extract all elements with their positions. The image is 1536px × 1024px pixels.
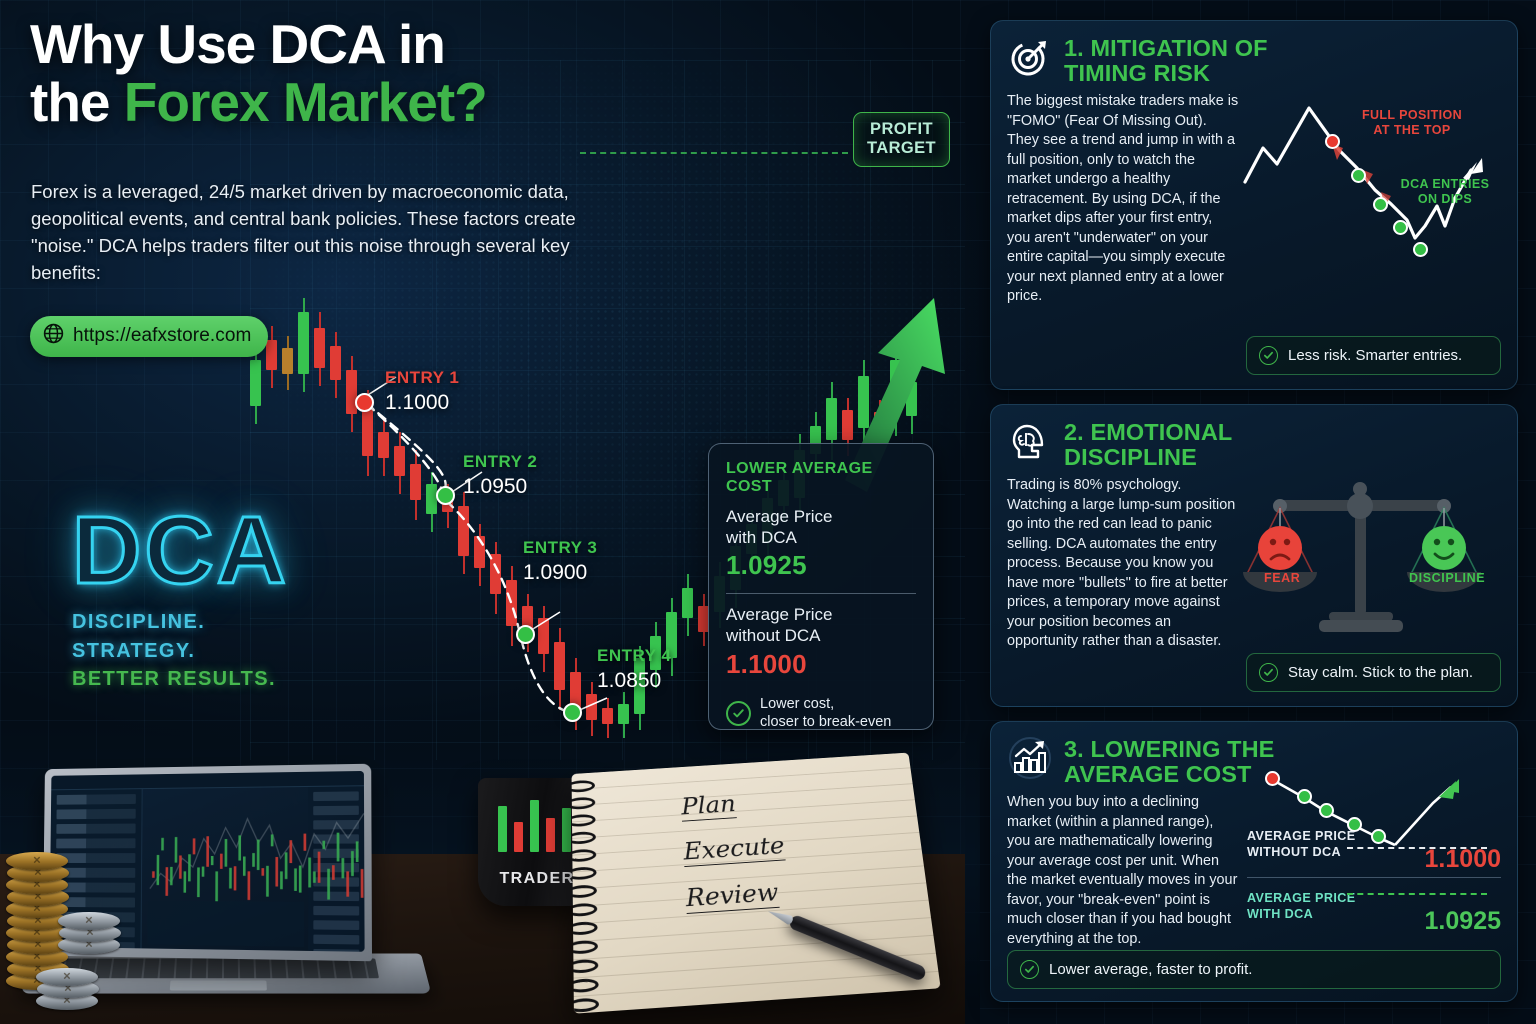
panel-1-badge-text: Less risk. Smarter entries. [1288,347,1462,364]
panel-3-badge-text: Lower average, faster to profit. [1049,961,1252,978]
lower-average-cost-card: LOWER AVERAGE COST Average Price with DC… [708,443,934,730]
panel-3-badge: Lower average, faster to profit. [1007,950,1501,989]
cost-footer-line1: Lower cost, [760,696,834,712]
panel-1-title-line2: TIMING RISK [1064,60,1210,86]
panel-3-visual: AVERAGE PRICE WITHOUT DCA 1.1000 AVERAGE… [1247,793,1501,949]
without-dca-value: 1.1000 [726,649,916,680]
entry-4-title: ENTRY 4 [597,646,671,666]
cost-card-title: LOWER AVERAGE COST [726,460,916,496]
cost-card-divider [726,593,916,594]
without-dca-label: Average Price without DCA [726,605,916,646]
head-brain-icon [1007,418,1053,464]
panel-3-row-without-dca: AVERAGE PRICE WITHOUT DCA 1.1000 [1247,827,1501,883]
panel-3-row1-label-line1: AVERAGE PRICE [1247,829,1356,843]
panel-lowering-the-average-cost: 3. LOWERING THE AVERAGE COST When you bu… [990,721,1518,1002]
panel-2-title-line1: EMOTIONAL [1090,419,1232,445]
entry-2-label: ENTRY 2 1.0950 [463,452,537,499]
notebook: Plan Execute Review [572,753,941,1014]
full-position-label-line2: AT THE TOP [1373,123,1450,137]
check-circle-icon [1259,663,1278,682]
desk-scene: ✕✕✕✕✕✕✕✕✕✕✕ ✕✕✕ ✕✕✕ TRADER Plan Execute … [0,714,965,1024]
panel-3-title-line2: AVERAGE COST [1064,761,1251,787]
notebook-line-plan: Plan [681,790,737,821]
check-circle-icon [1259,346,1278,365]
silver-coin-stack-2: ✕✕✕ [36,970,98,1010]
with-dca-label-line1: Average Price [726,507,832,526]
panel-3-text: When you buy into a declining market (wi… [1007,793,1239,949]
left-column: PROFIT TARGET ENTRY 1 1.1000 ENTRY 2 1.0… [0,0,965,1024]
title-line-2-prefix: the [30,71,124,133]
profit-target-line-1: PROFIT [867,120,936,139]
panel-mitigation-of-timing-risk: 1. MITIGATION OF TIMING RISK The biggest… [990,20,1518,390]
panel-3-row1-label-line2: WITHOUT DCA [1247,845,1341,859]
platform-price-chart [148,793,365,916]
notebook-line-review: Review [685,878,779,914]
target-arrow-icon [1007,34,1053,80]
notebook-line-execute: Execute [683,832,786,867]
page-title: Why Use DCA in the Forex Market? [30,16,670,132]
profit-target-line-2: TARGET [867,139,936,158]
panel-1-title-line1: MITIGATION OF [1090,35,1267,61]
entry-3-title: ENTRY 3 [523,538,597,558]
with-dca-value: 1.0925 [726,550,916,581]
right-column: 1. MITIGATION OF TIMING RISK The biggest… [972,0,1536,1024]
panel-1-visual: FULL POSITION AT THE TOP DCA ENTRIES ON … [1247,92,1501,307]
panel-2-text: Trading is 80% psychology. Watching a la… [1007,476,1239,652]
profit-target-dashed-line [580,152,848,154]
without-dca-label-line1: Average Price [726,605,832,624]
panel-3-row-with-dca: AVERAGE PRICE WITH DCA 1.0925 [1247,889,1501,945]
with-dca-label-line2: with DCA [726,528,797,547]
intro-paragraph: Forex is a leveraged, 24/5 market driven… [31,178,621,286]
notebook-spiral-binding [572,772,602,1013]
panel-2-badge: Stay calm. Stick to the plan. [1246,653,1501,692]
panel-2-title: 2. EMOTIONAL DISCIPLINE [1064,418,1232,470]
dca-entries-label: DCA ENTRIES ON DIPS [1387,177,1503,207]
panel-3-row2-label: AVERAGE PRICE WITH DCA [1247,891,1356,922]
website-url-text: https://eafxstore.com [73,325,251,347]
panel-1-number: 1. [1064,35,1084,61]
entry-3-price: 1.0900 [523,561,597,585]
panel-1-header: 1. MITIGATION OF TIMING RISK [991,21,1517,92]
infographic-root: PROFIT TARGET ENTRY 1 1.1000 ENTRY 2 1.0… [0,0,1536,1024]
title-line-1: Why Use DCA in [30,13,445,75]
tagline-better-results: BETTER RESULTS. [72,665,289,693]
panel-emotional-discipline: 2. EMOTIONAL DISCIPLINE Trading is 80% p… [990,404,1518,707]
without-dca-label-line2: without DCA [726,626,820,645]
entry-4-label: ENTRY 4 1.0850 [597,646,671,693]
entry-1-dot [355,393,374,412]
website-url-badge[interactable]: https://eafxstore.com [30,316,268,357]
panel-3-row2-dashed-line [1347,893,1487,895]
balance-scale-diagram: FEAR DISCIPLINE [1247,476,1501,652]
dca-neon-logo: DCA DISCIPLINE. STRATEGY. BETTER RESULTS… [72,505,289,693]
globe-icon [43,323,64,349]
notebook-handwriting: Plan Execute Review [681,787,792,931]
tagline-strategy: STRATEGY. [72,637,289,665]
entry-2-dot [436,486,455,505]
panel-1-badge: Less risk. Smarter entries. [1246,336,1501,375]
silver-coin-stack-1: ✕✕✕ [58,914,120,954]
panel-2-body: Trading is 80% psychology. Watching a la… [991,476,1517,664]
with-dca-label: Average Price with DCA [726,507,916,548]
panel-3-number: 3. [1064,736,1084,762]
entry-4-price: 1.0850 [597,669,671,693]
panel-3-price-table: AVERAGE PRICE WITHOUT DCA 1.1000 AVERAGE… [1247,827,1501,945]
panel-2-header: 2. EMOTIONAL DISCIPLINE [991,405,1517,476]
scale-frame [1237,472,1497,652]
entry-1-label: ENTRY 1 1.1000 [385,368,459,415]
panel-2-badge-text: Stay calm. Stick to the plan. [1288,664,1473,681]
entry-2-price: 1.0950 [463,475,537,499]
panel-2-visual: FEAR DISCIPLINE [1247,476,1501,652]
panel-3-row2-value: 1.0925 [1425,907,1501,936]
panel-2-number: 2. [1064,419,1084,445]
panel-3-row1-label: AVERAGE PRICE WITHOUT DCA [1247,829,1356,860]
dca-entries-label-line2: ON DIPS [1418,192,1472,206]
platform-orders-table [147,901,304,947]
scale-fear-label: FEAR [1264,571,1300,585]
panel-3-row1-value: 1.1000 [1425,845,1501,874]
full-position-label: FULL POSITION AT THE TOP [1347,108,1477,138]
check-circle-icon [1020,960,1039,979]
panel-3-row2-label-line2: WITH DCA [1247,907,1313,921]
panel-3-row2-label-line1: AVERAGE PRICE [1247,891,1356,905]
entry-2-title: ENTRY 2 [463,452,537,472]
panel-3-body: When you buy into a declining market (wi… [991,793,1517,961]
panel-1-body: The biggest mistake traders make is "FOM… [991,92,1517,319]
dca-entries-label-line1: DCA ENTRIES [1401,177,1490,191]
scale-discipline-label: DISCIPLINE [1409,571,1485,585]
profit-target-badge: PROFIT TARGET [853,112,950,167]
entry-3-dot [516,625,535,644]
dca-neon-word: DCA [72,505,289,596]
panel-3-title-line1: LOWERING THE [1090,736,1274,762]
full-position-label-line1: FULL POSITION [1362,108,1462,122]
bar-chart-growth-icon [1007,735,1053,781]
panel-2-title-line2: DISCIPLINE [1064,444,1197,470]
entry-1-title: ENTRY 1 [385,368,459,388]
dca-tagline: DISCIPLINE. STRATEGY. BETTER RESULTS. [72,608,289,693]
laptop-trackpad [170,981,267,991]
title-line-2-highlight: Forex Market? [124,71,487,133]
entry-3-label: ENTRY 3 1.0900 [523,538,597,585]
panel-1-title: 1. MITIGATION OF TIMING RISK [1064,34,1268,86]
tagline-discipline: DISCIPLINE. [72,608,289,636]
panel-1-text: The biggest mistake traders make is "FOM… [1007,92,1239,307]
panel-3-row-divider [1247,877,1501,878]
entry-1-price: 1.1000 [385,391,459,415]
